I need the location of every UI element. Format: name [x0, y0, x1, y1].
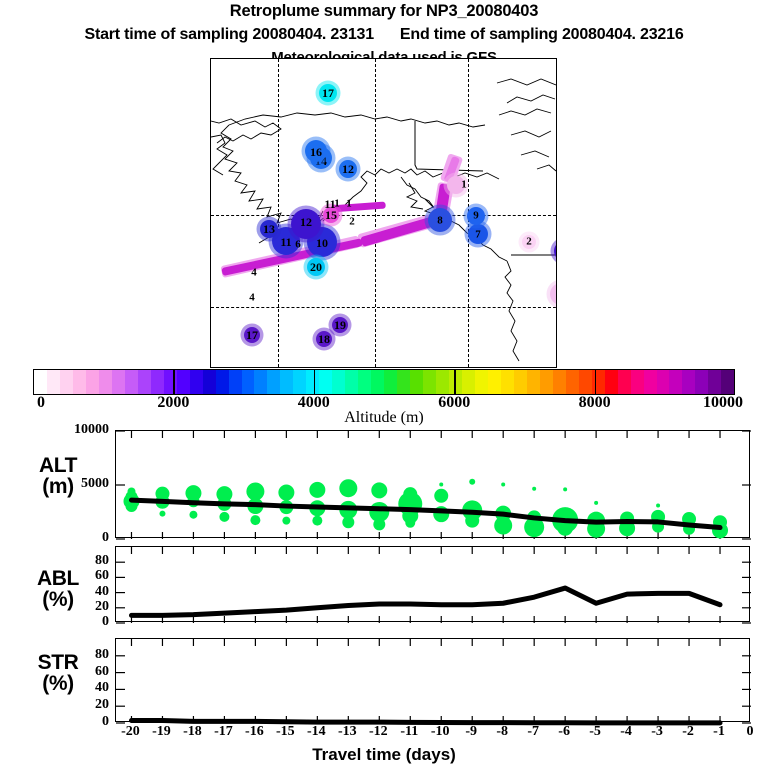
colorbar-swatch: [540, 370, 553, 394]
y-axis-tick-label: 20: [0, 697, 109, 713]
colorbar-swatch: [657, 370, 670, 394]
map-marker-label: 11: [280, 236, 291, 248]
colorbar-swatch: [514, 370, 527, 394]
map-marker-label: 4: [251, 268, 257, 279]
x-axis-tick-label: -4: [620, 724, 632, 740]
x-axis-tick-label: -20: [121, 724, 140, 740]
colorbar-swatch: [47, 370, 60, 394]
altitude-scatter-point: [246, 482, 264, 500]
map-marker-label: 8: [437, 216, 443, 227]
colorbar-swatch: [410, 370, 423, 394]
colorbar-swatch: [293, 370, 306, 394]
x-axis-tick-label: -10: [431, 724, 450, 740]
altitude-scatter-point: [563, 487, 567, 491]
altitude-scatter-point: [342, 516, 354, 528]
x-axis-title: Travel time (days): [0, 745, 768, 765]
colorbar-swatch: [242, 370, 255, 394]
colorbar-swatch: [631, 370, 644, 394]
colorbar-swatch: [527, 370, 540, 394]
colorbar-swatch: [436, 370, 449, 394]
x-axis-tick-label: -14: [307, 724, 326, 740]
altitude-plot[interactable]: [115, 430, 750, 538]
colorbar-swatch: [229, 370, 242, 394]
altitude-scatter-point: [465, 514, 479, 528]
colorbar-swatch: [73, 370, 86, 394]
sampling-times: Start time of sampling 20080404. 23131En…: [0, 26, 768, 44]
colorbar-swatch: [384, 370, 397, 394]
colorbar-swatch: [86, 370, 99, 394]
altitude-scatter-point: [656, 504, 660, 508]
altitude-scatter-point: [312, 516, 322, 526]
colorbar-swatch: [190, 370, 203, 394]
y-axis-tick-label: 0: [0, 714, 109, 730]
colorbar-swatch: [553, 370, 566, 394]
colorbar[interactable]: [33, 369, 735, 395]
colorbar-swatch: [34, 370, 47, 394]
colorbar-swatch: [332, 370, 345, 394]
altitude-scatter-point: [159, 511, 165, 517]
altitude-scatter-point: [594, 501, 598, 505]
x-axis-tick-label: 0: [747, 724, 754, 740]
map-marker-label: 18: [318, 333, 330, 345]
altitude-scatter-point: [434, 489, 448, 503]
str-plot[interactable]: [115, 638, 750, 722]
colorbar-swatch: [267, 370, 280, 394]
map-marker-label: 1: [461, 180, 467, 191]
colorbar-swatch: [566, 370, 579, 394]
altitude-scatter-point: [339, 479, 357, 497]
colorbar-swatch: [99, 370, 112, 394]
altitude-scatter-point: [189, 511, 197, 519]
colorbar-swatch: [605, 370, 618, 394]
map-marker-label: 19: [334, 319, 346, 331]
y-axis-tick-label: 5000: [0, 476, 109, 492]
y-axis-tick-label: 80: [0, 647, 109, 663]
altitude-scatter-point: [282, 517, 290, 525]
x-axis-tick-label: -3: [651, 724, 663, 740]
colorbar-swatch: [579, 370, 592, 394]
x-axis-tick-label: -7: [527, 724, 539, 740]
colorbar-swatch: [371, 370, 384, 394]
colorbar-swatch: [592, 370, 605, 394]
x-axis-tick-label: -2: [682, 724, 694, 740]
map-marker-label: 2: [526, 237, 532, 248]
colorbar-title: Altitude (m): [0, 409, 768, 427]
colorbar-swatch: [125, 370, 138, 394]
y-axis-tick-label: 80: [0, 553, 109, 569]
altitude-scatter-point: [405, 518, 415, 528]
colorbar-swatch: [682, 370, 695, 394]
colorbar-swatch: [151, 370, 164, 394]
map-marker-label: 17: [246, 329, 258, 341]
map-marker-label: 1: [346, 199, 352, 210]
map-gridline-vertical: [375, 59, 376, 367]
map-marker-label: 4: [249, 293, 255, 304]
x-axis-tick-label: -12: [369, 724, 388, 740]
altitude-scatter-point: [371, 482, 387, 498]
colorbar-swatch: [721, 370, 734, 394]
retroplume-map[interactable]: 1234567891011121314161712151918172044111…: [210, 58, 557, 368]
colorbar-swatch: [669, 370, 682, 394]
colorbar-swatch: [397, 370, 410, 394]
x-axis-tick-label: -19: [152, 724, 171, 740]
altitude-scatter-point: [219, 512, 229, 522]
map-gridline-horizontal: [211, 307, 556, 308]
colorbar-swatch: [112, 370, 125, 394]
x-axis-tick-label: -18: [183, 724, 202, 740]
str-plot-svg: [116, 639, 751, 723]
altitude-scatter-point: [469, 479, 475, 485]
map-marker-label: 12: [342, 163, 354, 175]
abl-plot-svg: [116, 547, 751, 623]
map-gridline-vertical: [278, 59, 279, 367]
colorbar-swatch: [488, 370, 501, 394]
colorbar-swatch: [501, 370, 514, 394]
x-axis-tick-label: -11: [400, 724, 418, 740]
colorbar-gradient: [33, 369, 735, 395]
y-axis-tick-label: 20: [0, 599, 109, 615]
map-marker-label: 9: [473, 211, 479, 222]
altitude-scatter-point: [250, 515, 260, 525]
map-marker-label: 20: [310, 261, 322, 273]
abl-plot[interactable]: [115, 546, 750, 622]
altitude-scatter-point: [494, 517, 512, 535]
y-axis-tick-label: 60: [0, 568, 109, 584]
colorbar-swatch: [475, 370, 488, 394]
map-marker-label: 7: [475, 230, 481, 241]
x-axis-tick-label: -16: [245, 724, 264, 740]
colorbar-swatch: [695, 370, 708, 394]
colorbar-separator: [454, 369, 456, 395]
altitude-scatter-point: [501, 482, 505, 486]
x-axis-tick-label: -13: [338, 724, 357, 740]
map-gridline-horizontal: [211, 215, 556, 216]
y-axis-tick-label: 60: [0, 664, 109, 680]
y-axis-tick-label: 40: [0, 680, 109, 696]
colorbar-swatch: [345, 370, 358, 394]
x-axis-tick-label: -1: [713, 724, 725, 740]
trend-line: [131, 588, 720, 615]
end-time-label: End time of sampling 20080404. 23216: [400, 26, 684, 43]
colorbar-separator: [173, 369, 175, 395]
map-marker-label: 17: [322, 87, 334, 99]
altitude-scatter-point: [373, 518, 385, 530]
coastline-layer: [211, 59, 556, 367]
colorbar-separator: [595, 369, 597, 395]
colorbar-swatch: [60, 370, 73, 394]
x-axis-tick-label: -9: [465, 724, 477, 740]
map-marker-label: 6: [295, 240, 301, 251]
colorbar-swatch: [280, 370, 293, 394]
trend-line: [131, 720, 720, 722]
y-axis-tick-label: 40: [0, 584, 109, 600]
map-marker-label: 11: [324, 198, 335, 210]
colorbar-swatch: [254, 370, 267, 394]
y-axis-tick-label: 0: [0, 614, 109, 630]
colorbar-swatch: [358, 370, 371, 394]
colorbar-swatch: [423, 370, 436, 394]
colorbar-swatch: [319, 370, 332, 394]
colorbar-separator: [314, 369, 316, 395]
y-axis-tick-label: 10000: [0, 422, 109, 438]
colorbar-swatch: [618, 370, 631, 394]
colorbar-swatch: [216, 370, 229, 394]
map-marker-label: 12: [300, 216, 312, 228]
altitude-scatter-point: [532, 487, 536, 491]
map-marker-label: 2: [349, 217, 355, 228]
map-content: 1234567891011121314161712151918172044111…: [211, 59, 556, 367]
colorbar-swatch: [203, 370, 216, 394]
altitude-scatter-point: [309, 482, 325, 498]
altitude-plot-svg: [116, 431, 751, 539]
start-time-label: Start time of sampling 20080404. 23131: [84, 26, 373, 43]
map-marker-label: 10: [316, 237, 328, 249]
page-title: Retroplume summary for NP3_20080403: [0, 2, 768, 21]
x-axis-tick-label: -17: [214, 724, 233, 740]
altitude-scatter-point: [278, 485, 294, 501]
colorbar-swatch: [462, 370, 475, 394]
colorbar-swatch: [177, 370, 190, 394]
x-axis-tick-label: -6: [558, 724, 570, 740]
colorbar-swatch: [708, 370, 721, 394]
map-marker-label: 13: [263, 223, 275, 235]
x-axis-tick-label: -5: [589, 724, 601, 740]
alt-label-line1: ALT: [8, 455, 108, 476]
x-axis-tick-label: -8: [496, 724, 508, 740]
y-axis-tick-label: 0: [0, 530, 109, 546]
x-axis-tick-labels: -20-19-18-17-16-15-14-13-12-11-10-9-8-7-…: [0, 724, 768, 744]
map-marker-label: 16: [310, 146, 322, 158]
colorbar-swatch: [644, 370, 657, 394]
colorbar-swatch: [138, 370, 151, 394]
altitude-scatter-point: [439, 482, 443, 486]
x-axis-tick-label: -15: [276, 724, 295, 740]
